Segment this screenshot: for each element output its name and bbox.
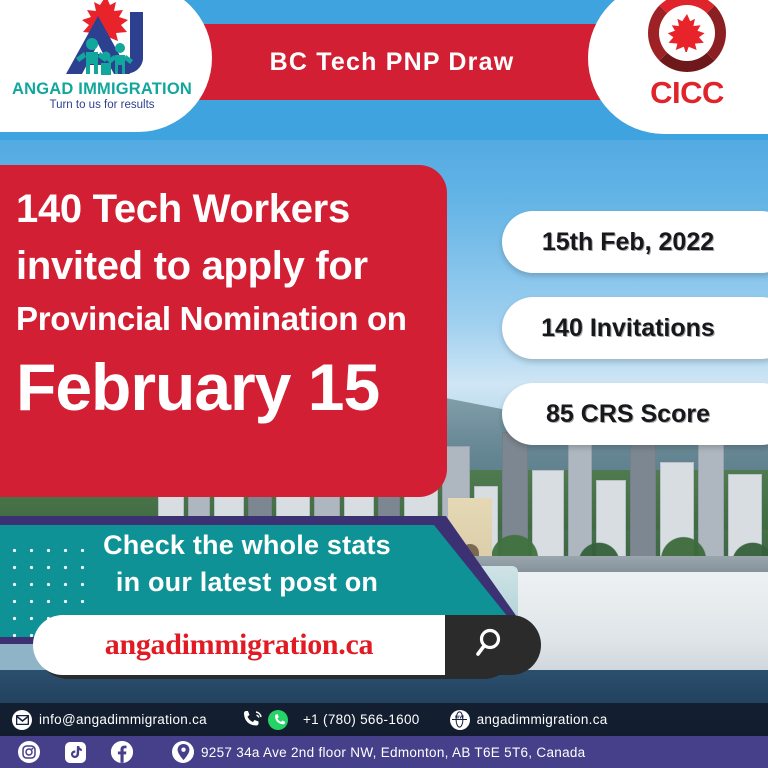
website-url-text: angadimmigration.ca	[105, 628, 373, 662]
header-title-banner: BC Tech PNP Draw	[222, 24, 562, 100]
search-button[interactable]	[445, 615, 541, 675]
headline-line-1: 140 Tech Workers	[16, 181, 429, 238]
footer-phone-text: +1 (780) 566-1600	[303, 712, 420, 727]
brand-logo: ANGAD IMMIGRATION Turn to us for results	[0, 0, 212, 132]
headline-panel: 140 Tech Workers invited to apply for Pr…	[0, 165, 447, 497]
phone-icon	[241, 710, 263, 730]
website-url-field[interactable]: angadimmigration.ca	[33, 615, 445, 675]
footer-website-text: angadimmigration.ca	[477, 712, 608, 727]
footer-email[interactable]: info@angadimmigration.ca	[12, 710, 207, 730]
tiktok-icon	[65, 742, 86, 763]
envelope-icon	[12, 710, 32, 730]
stat-pill-invitations: 140 Invitations	[502, 297, 768, 359]
svg-text:ww: ww	[454, 715, 464, 721]
footer-email-text: info@angadimmigration.ca	[39, 712, 207, 727]
header-title-text: BC Tech PNP Draw	[270, 48, 515, 77]
whatsapp-icon	[268, 710, 288, 730]
headline-line-2: invited to apply for	[16, 238, 429, 295]
footer-contact-bar: info@angadimmigration.ca +1 (780) 566-16…	[0, 703, 768, 736]
stat-pill-crs-score: 85 CRS Score	[502, 383, 768, 445]
headline-line-4: February 15	[16, 346, 429, 429]
social-link-instagram[interactable]	[18, 741, 47, 763]
stat-pill-date: 15th Feb, 2022	[502, 211, 768, 273]
magnifier-icon	[476, 626, 510, 665]
headline-line-3: Provincial Nomination on	[16, 295, 429, 343]
cicc-ring-icon	[648, 0, 726, 72]
footer-phone[interactable]: +1 (780) 566-1600	[241, 710, 420, 730]
stat-pill-invitations-label: 140 Invitations	[502, 314, 754, 343]
footer-website[interactable]: ww angadimmigration.ca	[450, 710, 608, 730]
poster-canvas: BC Tech PNP Draw	[0, 0, 768, 768]
cta-line-1: Check the whole stats	[62, 530, 432, 561]
footer-address-text: 9257 34a Ave 2nd floor NW, Edmonton, AB …	[201, 745, 586, 760]
location-pin-icon	[172, 741, 194, 763]
cicc-label: CICC	[622, 75, 752, 111]
cicc-accreditation-logo: CICC	[588, 0, 768, 134]
footer-address-bar: 9257 34a Ave 2nd floor NW, Edmonton, AB …	[0, 736, 768, 768]
social-link-facebook[interactable]	[111, 741, 140, 763]
facebook-icon	[111, 741, 133, 763]
social-link-tiktok[interactable]	[65, 742, 93, 763]
cta-line-2: in our latest post on	[62, 567, 432, 598]
logo-company-name: ANGAD IMMIGRATION	[2, 80, 202, 99]
stat-pill-crs-score-label: 85 CRS Score	[502, 400, 754, 429]
instagram-icon	[18, 741, 40, 763]
logo-mark-icon	[2, 0, 202, 80]
www-globe-icon: ww	[450, 710, 470, 730]
footer-address: 9257 34a Ave 2nd floor NW, Edmonton, AB …	[172, 741, 586, 763]
logo-tagline: Turn to us for results	[2, 99, 202, 111]
stat-pill-date-label: 15th Feb, 2022	[502, 228, 754, 257]
